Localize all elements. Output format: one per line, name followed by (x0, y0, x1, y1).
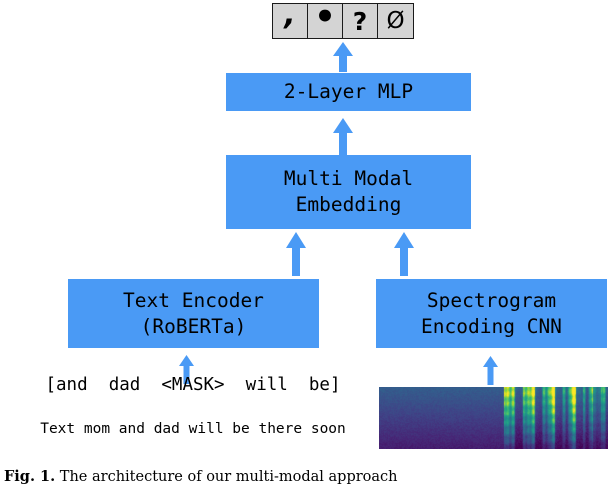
block-spectrogram-encoding-cnn: Spectrogram Encoding CNN (376, 279, 607, 348)
block-spectrogram-encoding-cnn-line2: Encoding CNN (421, 314, 562, 340)
block-text-encoder-line1: Text Encoder (123, 288, 264, 314)
block-2-layer-mlp: 2-Layer MLP (226, 73, 471, 111)
source-sentence-text: Text mom and dad will be there soon (24, 421, 362, 437)
audio-spectrogram-canvas (379, 387, 608, 449)
audio-spectrogram (379, 387, 608, 449)
block-text-encoder: Text Encoder (RoBERTa) (68, 279, 319, 348)
token-cell-comma: , (273, 4, 308, 38)
arrow-mlp-to-output-icon (330, 42, 356, 72)
token-cell-period: • (308, 4, 343, 38)
block-multi-modal-embedding: Multi Modal Embedding (226, 155, 471, 229)
arrow-spectrogram-to-cnn-icon (481, 356, 500, 385)
arrow-text-encoder-to-multimodal-icon (283, 232, 309, 276)
block-spectrogram-encoding-cnn-line1: Spectrogram (427, 288, 556, 314)
block-text-encoder-line2: (RoBERTa) (141, 314, 247, 340)
masked-sequence-text: [and dad <MASK> will be] (38, 375, 348, 395)
block-2-layer-mlp-label: 2-Layer MLP (284, 79, 413, 105)
figure-caption: Fig. 1. The architecture of our multi-mo… (4, 468, 608, 485)
block-multi-modal-embedding-line1: Multi Modal (284, 166, 413, 192)
arrow-spectrogram-encoder-to-multimodal-icon (391, 232, 417, 276)
punctuation-class-outputs: , • ? Ø (272, 3, 414, 39)
block-multi-modal-embedding-line2: Embedding (296, 192, 402, 218)
token-cell-null-symbol: Ø (378, 4, 413, 38)
token-cell-question-mark: ? (343, 4, 378, 38)
figure-caption-label: Fig. 1. (4, 468, 55, 485)
figure-caption-text: The architecture of our multi-modal appr… (55, 469, 397, 485)
arrow-multimodal-to-mlp-icon (330, 118, 356, 155)
figure-canvas: , • ? Ø 2-Layer MLP Multi Modal Embeddin… (0, 0, 612, 484)
